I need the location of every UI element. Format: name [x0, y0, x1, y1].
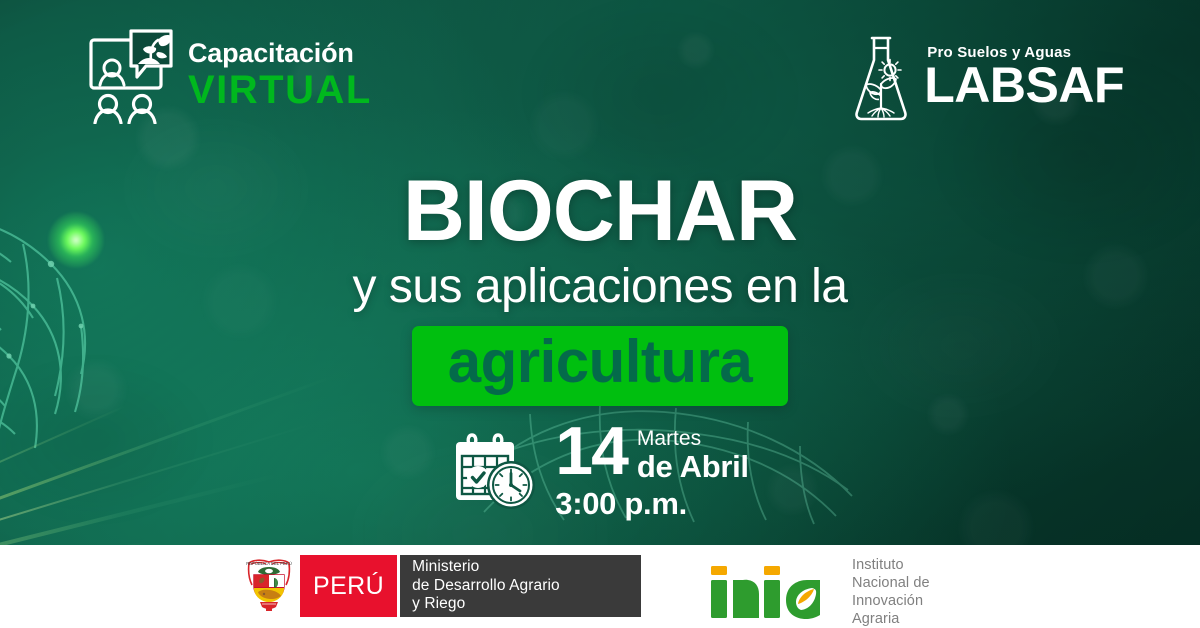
inia-line-2: Nacional de — [852, 575, 930, 591]
peru-coat-of-arms-icon: REPÚBLICA DEL PERÚ — [242, 557, 296, 615]
ministry-line-1: Ministerio — [412, 558, 479, 575]
labsaf-logo: Pro Suelos y Aguas LABSAF — [848, 32, 1124, 124]
event-month: de Abril — [637, 450, 749, 484]
footer-bar: REPÚBLICA DEL PERÚ — [0, 545, 1200, 628]
laboratory-flask-plant-icon — [848, 32, 914, 124]
calendar-clock-icon — [451, 430, 539, 512]
page-subtitle: y sus aplicaciones en la — [0, 262, 1200, 312]
event-day-of-week: Martes — [637, 428, 749, 450]
inia-fullname: Instituto Nacional de Innovación Agraria — [852, 556, 930, 628]
peru-country-label: PERÚ — [313, 572, 384, 601]
ministry-name-block: Ministerio de Desarrollo Agrario y Riego — [400, 555, 641, 617]
capacitacion-virtual-logo: Capacitación VIRTUAL — [88, 28, 372, 124]
poster-canvas: Capacitación VIRTUAL Pro Suelos y Aguas … — [0, 0, 1200, 628]
labsaf-title: LABSAF — [924, 60, 1124, 111]
event-time: 3:00 p.m. — [555, 486, 749, 522]
inia-line-4: Agraria — [852, 611, 899, 627]
page-title: BIOCHAR — [0, 168, 1200, 254]
highlight-badge: agricultura — [412, 326, 789, 406]
capacitacion-label: Capacitación — [188, 40, 372, 67]
ministry-line-2: de Desarrollo Agrario — [412, 577, 560, 594]
inia-wordmark-icon — [708, 564, 836, 620]
peru-country-block: PERÚ — [300, 555, 397, 617]
main-title-block: BIOCHAR y sus aplicaciones en la agricul… — [0, 168, 1200, 406]
event-datetime-block: 14 Martes de Abril 3:00 p.m. — [0, 424, 1200, 522]
svg-text:REPÚBLICA DEL PERÚ: REPÚBLICA DEL PERÚ — [246, 561, 291, 566]
virtual-training-screen-icon — [88, 28, 174, 124]
event-day-number: 14 — [555, 424, 627, 480]
inia-line-1: Instituto — [852, 557, 904, 573]
ministry-line-3: y Riego — [412, 595, 465, 612]
inia-line-3: Innovación — [852, 593, 923, 609]
inia-logo: Instituto Nacional de Innovación Agraria — [708, 556, 930, 628]
virtual-label: VIRTUAL — [188, 69, 372, 111]
peru-ministry-logo: REPÚBLICA DEL PERÚ — [238, 555, 641, 617]
